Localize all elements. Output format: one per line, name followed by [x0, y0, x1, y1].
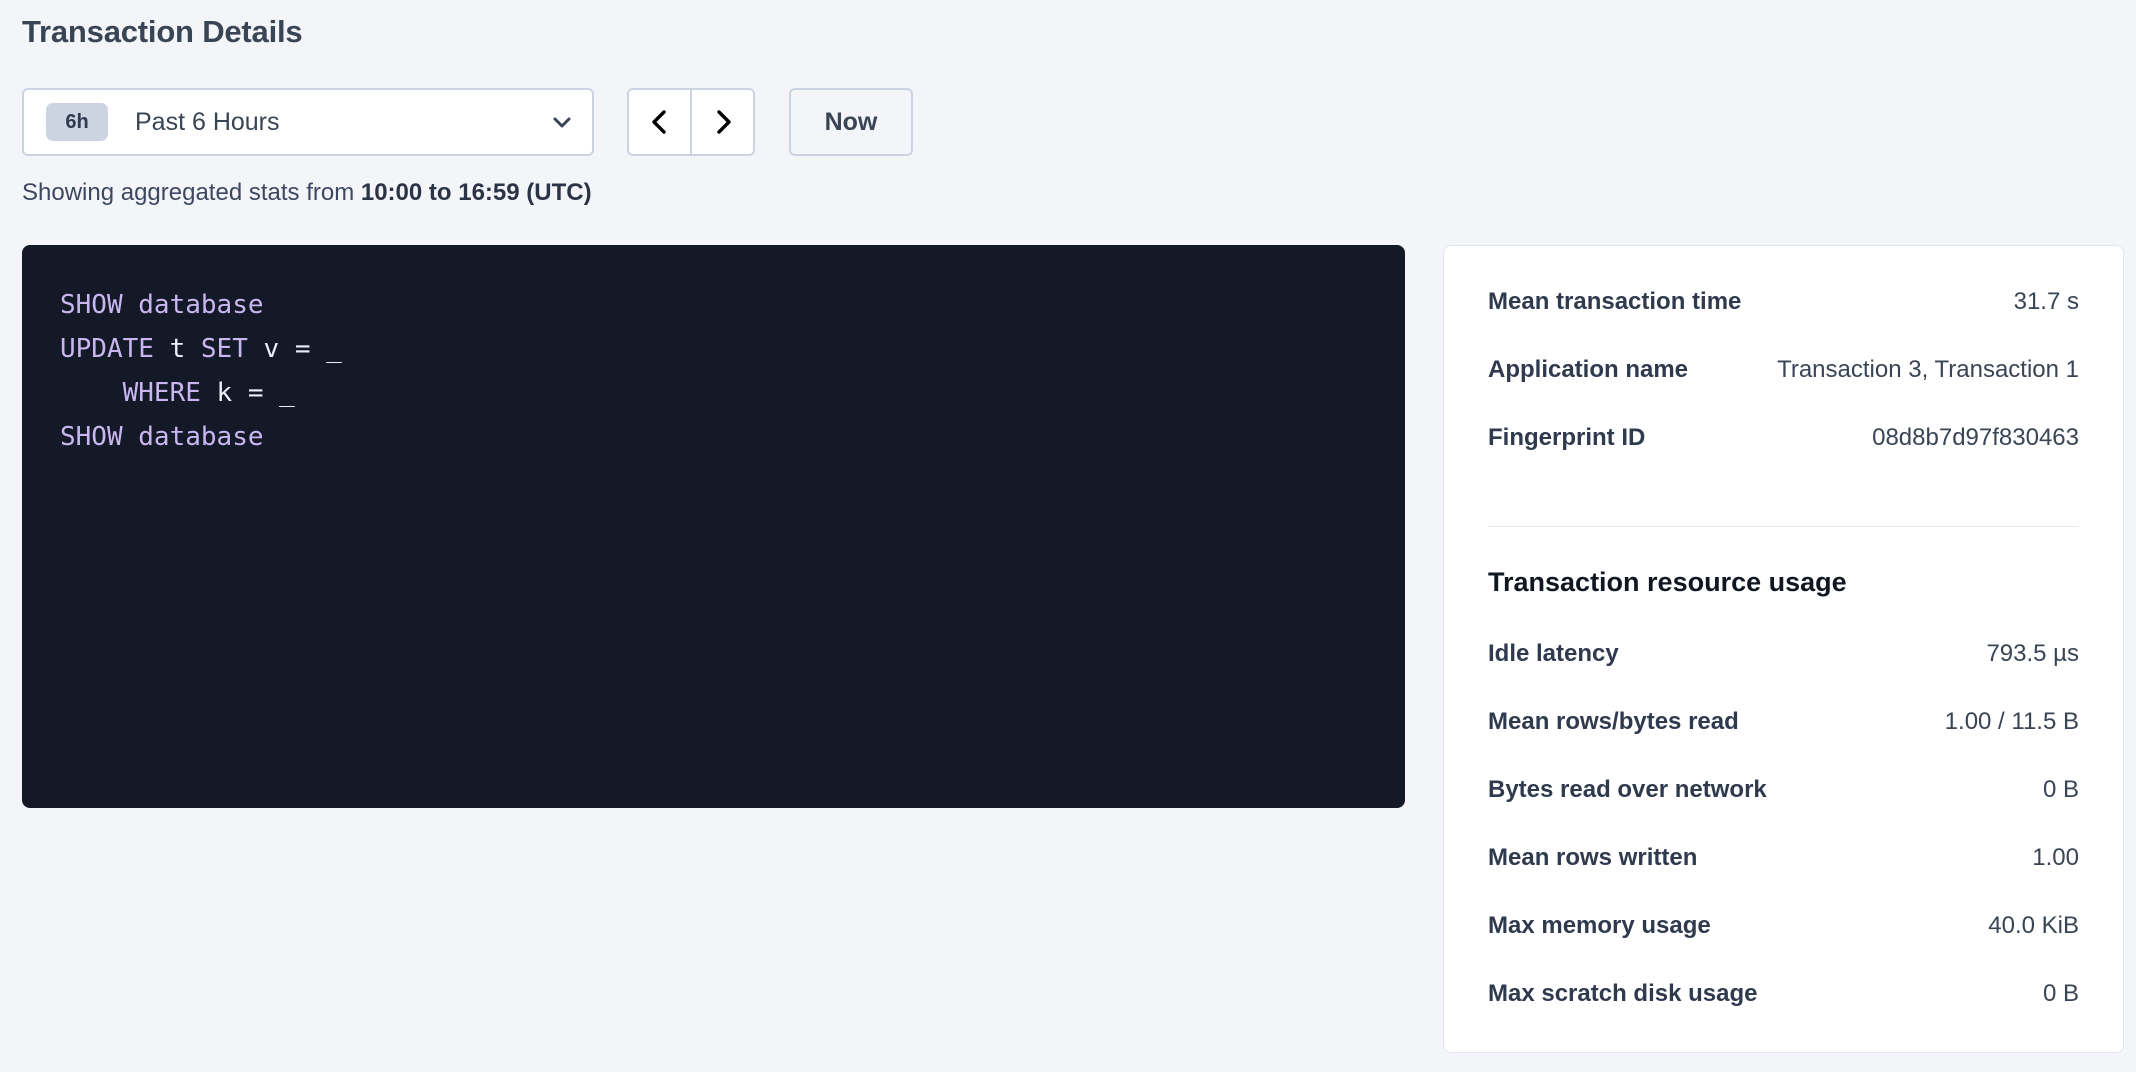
stat-label: Application name	[1488, 356, 1688, 384]
stat-label: Idle latency	[1488, 640, 1619, 668]
stat-value: 1.00	[2032, 844, 2079, 872]
summary-stat-row: Mean transaction time31.7 s	[1488, 288, 2079, 356]
resource-stat-row: Idle latency793.5 µs	[1488, 640, 2079, 708]
aggregation-range-prefix: Showing aggregated stats from	[22, 179, 361, 206]
stat-value: 793.5 µs	[1986, 640, 2079, 668]
sql-code-text: SHOW database UPDATE t SET v = _ WHERE k…	[60, 283, 1405, 459]
sql-keyword: SHOW	[60, 422, 123, 452]
sql-keyword: SET	[201, 334, 248, 364]
stat-label: Mean rows/bytes read	[1488, 708, 1739, 736]
summary-stat-row: Fingerprint ID08d8b7d97f830463	[1488, 424, 2079, 492]
transaction-details-page: Transaction Details 6h Past 6 Hours	[0, 0, 2136, 1072]
next-period-button[interactable]	[691, 88, 755, 156]
stat-label: Mean rows written	[1488, 844, 1697, 872]
sql-keyword: database	[138, 290, 263, 320]
chevron-left-icon	[647, 107, 673, 137]
previous-period-button[interactable]	[627, 88, 691, 156]
aggregation-range-text: Showing aggregated stats from 10:00 to 1…	[22, 179, 592, 207]
resource-stat-row: Mean rows written1.00	[1488, 844, 2079, 912]
resource-usage-heading: Transaction resource usage	[1488, 567, 2079, 598]
sql-token: v = _	[248, 334, 342, 364]
chevron-down-icon	[550, 110, 574, 134]
time-range-select[interactable]: 6h Past 6 Hours	[22, 88, 594, 156]
page-title: Transaction Details	[22, 14, 302, 50]
time-nav-group	[627, 88, 755, 156]
stat-value: 31.7 s	[2014, 288, 2079, 316]
sql-token	[123, 422, 139, 452]
sql-token	[123, 290, 139, 320]
stat-label: Bytes read over network	[1488, 776, 1767, 804]
sql-keyword: SHOW	[60, 290, 123, 320]
sql-token: t	[154, 334, 201, 364]
stat-value: 08d8b7d97f830463	[1872, 424, 2079, 452]
summary-stats-list: Mean transaction time31.7 sApplication n…	[1488, 288, 2079, 492]
resource-stats-list: Idle latency793.5 µsMean rows/bytes read…	[1488, 640, 2079, 1048]
stat-value: 0 B	[2043, 776, 2079, 804]
sql-token: k = _	[201, 378, 295, 408]
summary-stat-row: Application nameTransaction 3, Transacti…	[1488, 356, 2079, 424]
time-range-label: Past 6 Hours	[135, 108, 550, 137]
resource-stat-row: Mean rows/bytes read1.00 / 11.5 B	[1488, 708, 2079, 776]
sql-keyword: database	[138, 422, 263, 452]
time-range-badge: 6h	[46, 103, 108, 141]
sql-keyword: UPDATE	[60, 334, 154, 364]
transaction-stats-card: Mean transaction time31.7 sApplication n…	[1443, 245, 2124, 1053]
sql-token	[60, 378, 123, 408]
stat-label: Fingerprint ID	[1488, 424, 1645, 452]
sql-code-panel: SHOW database UPDATE t SET v = _ WHERE k…	[22, 245, 1405, 808]
resource-stat-row: Max memory usage40.0 KiB	[1488, 912, 2079, 980]
stat-value: 40.0 KiB	[1988, 912, 2079, 940]
time-range-toolbar: 6h Past 6 Hours	[22, 88, 913, 156]
sql-keyword: WHERE	[123, 378, 201, 408]
aggregation-range-value: 10:00 to 16:59 (UTC)	[361, 179, 592, 206]
stat-value: Transaction 3, Transaction 1	[1777, 356, 2079, 384]
chevron-right-icon	[710, 107, 736, 137]
stat-value: 1.00 / 11.5 B	[1945, 708, 2079, 736]
card-divider	[1488, 526, 2079, 527]
stat-label: Max memory usage	[1488, 912, 1711, 940]
stat-label: Max scratch disk usage	[1488, 980, 1757, 1008]
stat-value: 0 B	[2043, 980, 2079, 1008]
now-button[interactable]: Now	[789, 88, 913, 156]
resource-stat-row: Max scratch disk usage0 B	[1488, 980, 2079, 1048]
resource-stat-row: Bytes read over network0 B	[1488, 776, 2079, 844]
stat-label: Mean transaction time	[1488, 288, 1741, 316]
